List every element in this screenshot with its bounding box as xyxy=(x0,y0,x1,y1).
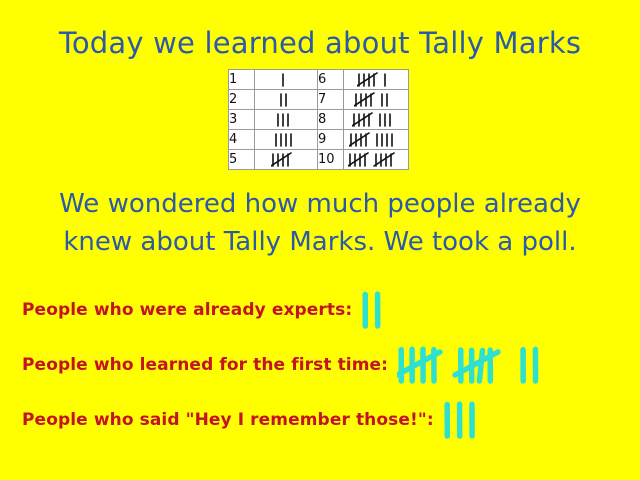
poll-label: People who said "Hey I remember those!": xyxy=(22,410,434,430)
poll-row: People who said "Hey I remember those!": xyxy=(22,398,632,442)
tally-marks-cell xyxy=(344,110,409,130)
tally-marks-cell xyxy=(254,130,317,150)
tally-marks-cell xyxy=(344,150,409,170)
poll-tally-marks xyxy=(361,289,395,331)
tally-number: 7 xyxy=(318,90,344,110)
poll-tally-marks xyxy=(443,399,489,441)
tally-number: 9 xyxy=(318,130,344,150)
tally-number: 6 xyxy=(318,70,344,90)
tally-number: 10 xyxy=(318,150,344,170)
slide-canvas: Today we learned about Tally Marks 1 6 2… xyxy=(0,0,640,480)
tally-table: 1 6 2 7 3 8 4 9 5 10 xyxy=(228,69,409,170)
table-row: 1 6 xyxy=(229,70,409,90)
table-row: 5 10 xyxy=(229,150,409,170)
body-line-2: knew about Tally Marks. We took a poll. xyxy=(0,223,640,261)
tally-marks-cell xyxy=(254,110,317,130)
poll-tally-marks xyxy=(397,344,545,386)
table-row: 4 9 xyxy=(229,130,409,150)
tally-number: 8 xyxy=(318,110,344,130)
tally-number: 2 xyxy=(229,90,255,110)
tally-marks-cell xyxy=(344,130,409,150)
poll-row: People who were already experts: xyxy=(22,288,632,332)
poll-label: People who were already experts: xyxy=(22,300,352,320)
page-title: Today we learned about Tally Marks xyxy=(0,26,640,60)
tally-number: 3 xyxy=(229,110,255,130)
table-row: 2 7 xyxy=(229,90,409,110)
tally-number: 1 xyxy=(229,70,255,90)
body-line-1: We wondered how much people already xyxy=(0,185,640,223)
poll-label: People who learned for the first time: xyxy=(22,355,388,375)
tally-marks-cell xyxy=(254,70,317,90)
tally-number: 5 xyxy=(229,150,255,170)
body-paragraph: We wondered how much people already knew… xyxy=(0,185,640,261)
tally-marks-cell xyxy=(254,90,317,110)
tally-marks-cell xyxy=(344,90,409,110)
poll-row: People who learned for the first time: xyxy=(22,343,632,387)
table-row: 3 8 xyxy=(229,110,409,130)
tally-marks-cell xyxy=(344,70,409,90)
tally-reference-table: 1 6 2 7 3 8 4 9 5 10 xyxy=(228,69,409,170)
tally-number: 4 xyxy=(229,130,255,150)
tally-marks-cell xyxy=(254,150,317,170)
